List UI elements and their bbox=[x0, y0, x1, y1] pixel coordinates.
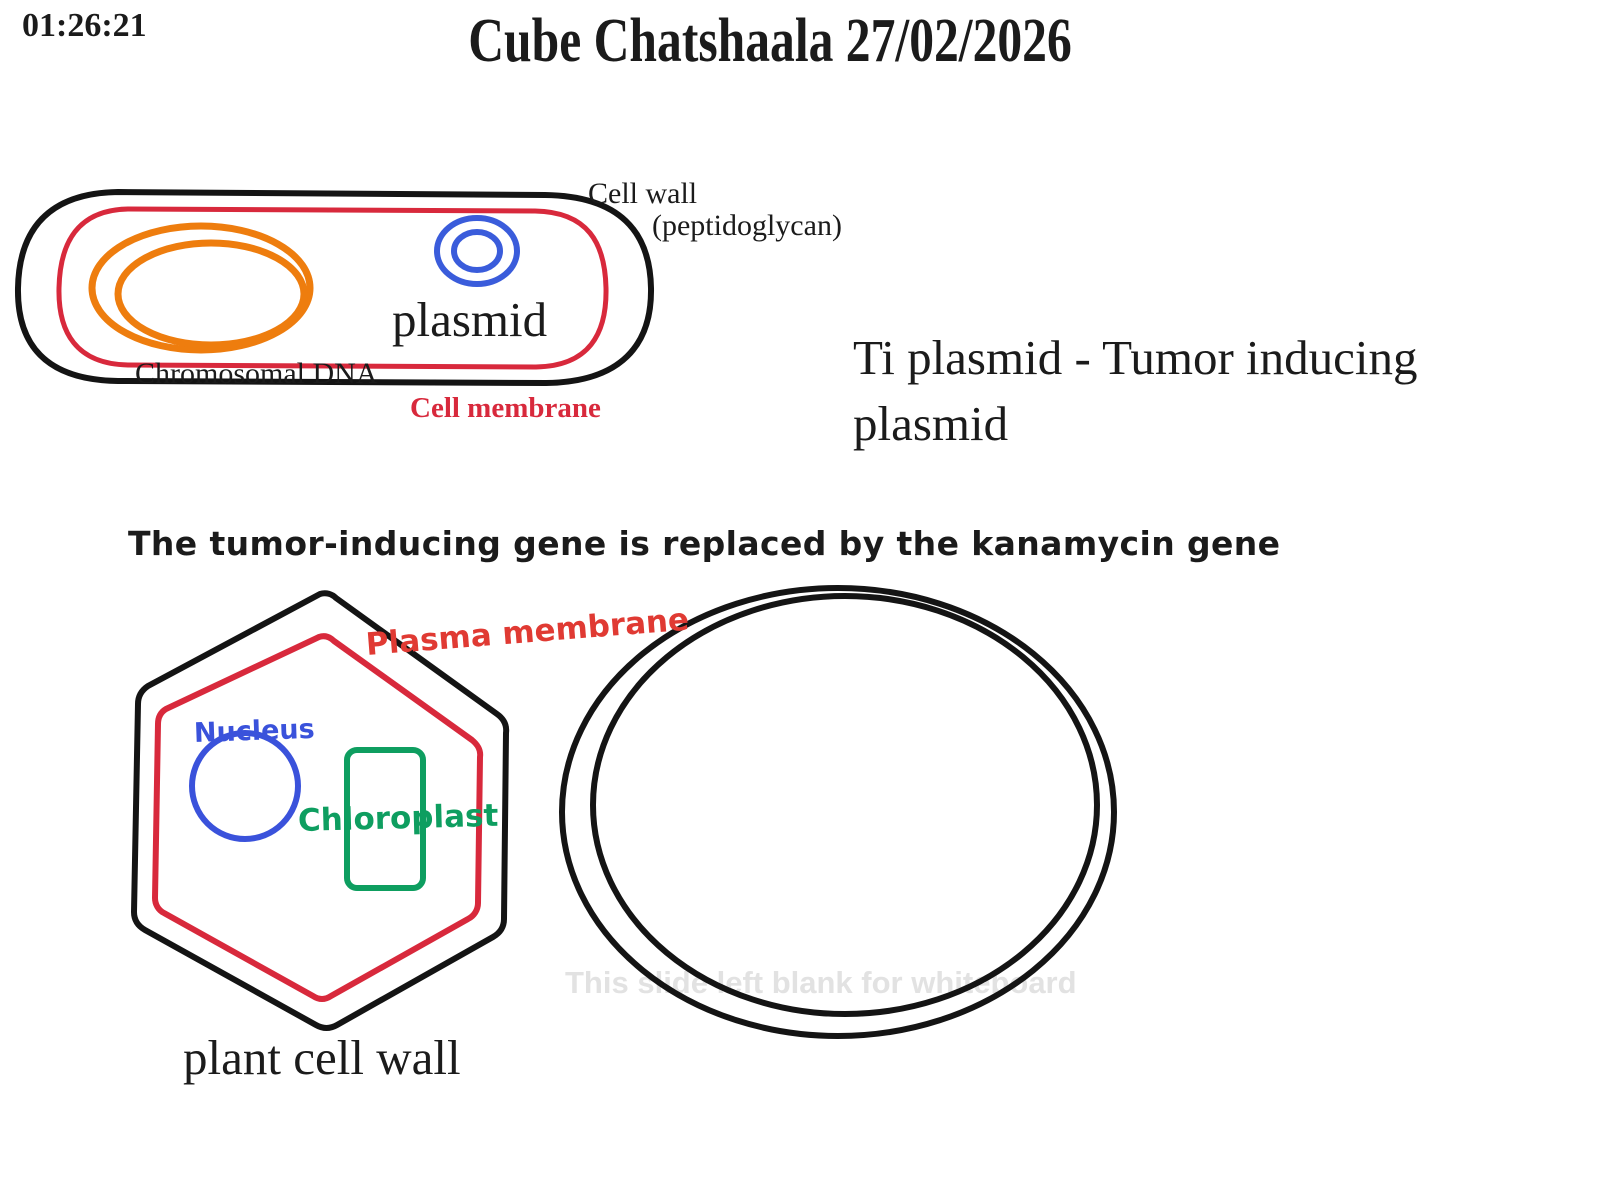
ti-plasmid-note: Ti plasmid - Tumor inducing plasmid bbox=[853, 325, 1533, 457]
plasmid-label: plasmid bbox=[392, 291, 547, 348]
blank-circle-inner bbox=[593, 596, 1097, 1014]
slide-title: Cube Chatshaala 27/02/2026 bbox=[154, 6, 1386, 77]
plasmid-outer-ring bbox=[437, 218, 517, 284]
cell-membrane-label: Cell membrane bbox=[410, 392, 601, 425]
chromosomal-dna-label: Chromosomal DNA bbox=[135, 357, 378, 391]
plant-cell-wall-caption: plant cell wall bbox=[183, 1029, 461, 1086]
plasmid-inner-ring bbox=[454, 232, 500, 270]
chromosomal-dna-inner-loop bbox=[118, 243, 304, 345]
bacterial-cell-wall-shape bbox=[18, 192, 651, 383]
cell-wall-label-line1: Cell wall bbox=[588, 177, 697, 210]
nucleus-shape bbox=[192, 733, 298, 839]
session-timer: 01:26:21 bbox=[22, 7, 147, 45]
chromosomal-dna-outer-loop bbox=[92, 226, 310, 350]
whiteboard-watermark: This slide left blank for whiteboard bbox=[565, 965, 1077, 1001]
chloroplast-label: Chloroplast bbox=[298, 798, 499, 839]
cell-wall-label: Cell wall (peptidoglycan) bbox=[588, 178, 842, 242]
cell-wall-label-line2: (peptidoglycan) bbox=[588, 210, 842, 242]
nucleus-label: Nucleus bbox=[193, 714, 315, 749]
kanamycin-sentence: The tumor-inducing gene is replaced by t… bbox=[128, 524, 1280, 563]
slide-canvas: 01:26:21 Cube Chatshaala 27/02/2026 This… bbox=[0, 0, 1600, 1200]
plasma-membrane-label: Plasma membrane bbox=[365, 602, 691, 663]
